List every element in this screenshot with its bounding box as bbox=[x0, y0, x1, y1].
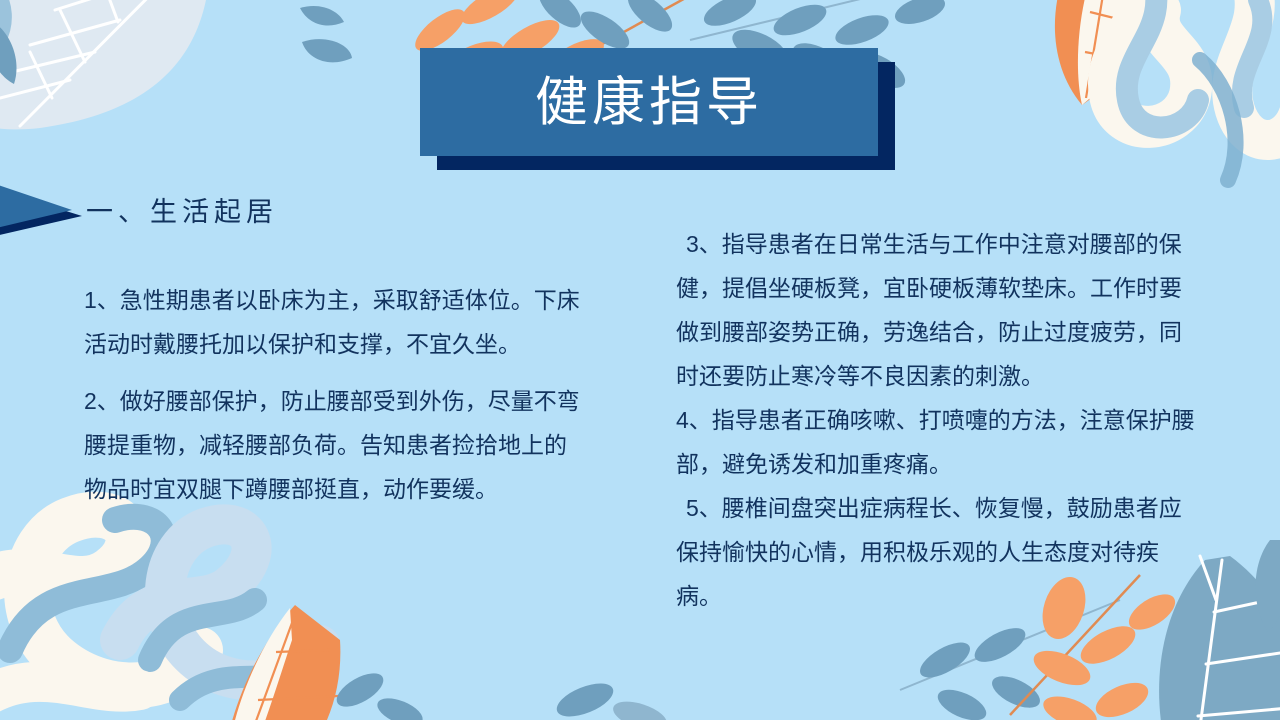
bottom-left-orange-leaf bbox=[223, 605, 340, 720]
slide-root: 健康指导 一、生活起居 1、急性期患者以卧床为主，采取舒适体位。下床活动时戴腰托… bbox=[0, 0, 1280, 720]
page-title: 健康指导 bbox=[535, 76, 763, 129]
title-banner: 健康指导 bbox=[420, 48, 878, 156]
top-left-swirl bbox=[0, 0, 4, 65]
top-small-blue-leaves bbox=[300, 6, 352, 62]
right-paragraph-4: 4、指导患者正确咳嗽、打喷嚏的方法，注意保护腰部，避免诱发和加重疼痛。 bbox=[676, 398, 1196, 486]
bottom-center-leaves bbox=[552, 677, 670, 720]
left-paragraph-2: 2、做好腰部保护，防止腰部受到外伤，尽量不弯腰提重物，减轻腰部负荷。告知患者捡拾… bbox=[84, 379, 584, 511]
left-small-leaf bbox=[0, 20, 17, 84]
section-heading: 一、生活起居 bbox=[86, 190, 278, 229]
right-paragraph-3: 3、指导患者在日常生活与工作中注意对腰部的保健，提倡坐硬板凳，宜卧硬板薄软垫床。… bbox=[676, 222, 1196, 398]
top-left-pale-leaf bbox=[0, 0, 210, 129]
right-edge-leaf bbox=[1256, 540, 1280, 632]
bottom-left-waves bbox=[0, 515, 320, 700]
right-paragraph-5: 5、腰椎间盘突出症病程长、恢复慢，鼓励患者应保持愉快的心情，用积极乐观的人生态度… bbox=[676, 486, 1196, 618]
top-right-orange-leaf bbox=[1055, 0, 1146, 105]
top-right-swirl bbox=[1109, 0, 1280, 180]
bottom-left-small-leaves bbox=[331, 667, 426, 720]
left-paragraph-1: 1、急性期患者以卧床为主，采取舒适体位。下床活动时戴腰托加以保护和支撑，不宜久坐… bbox=[84, 278, 584, 366]
left-text-column: 1、急性期患者以卧床为主，采取舒适体位。下床活动时戴腰托加以保护和支撑，不宜久坐… bbox=[84, 278, 584, 511]
bottom-right-blue-sprig bbox=[900, 600, 1120, 720]
right-text-column: 3、指导患者在日常生活与工作中注意对腰部的保健，提倡坐硬板凳，宜卧硬板薄软垫床。… bbox=[676, 222, 1196, 618]
